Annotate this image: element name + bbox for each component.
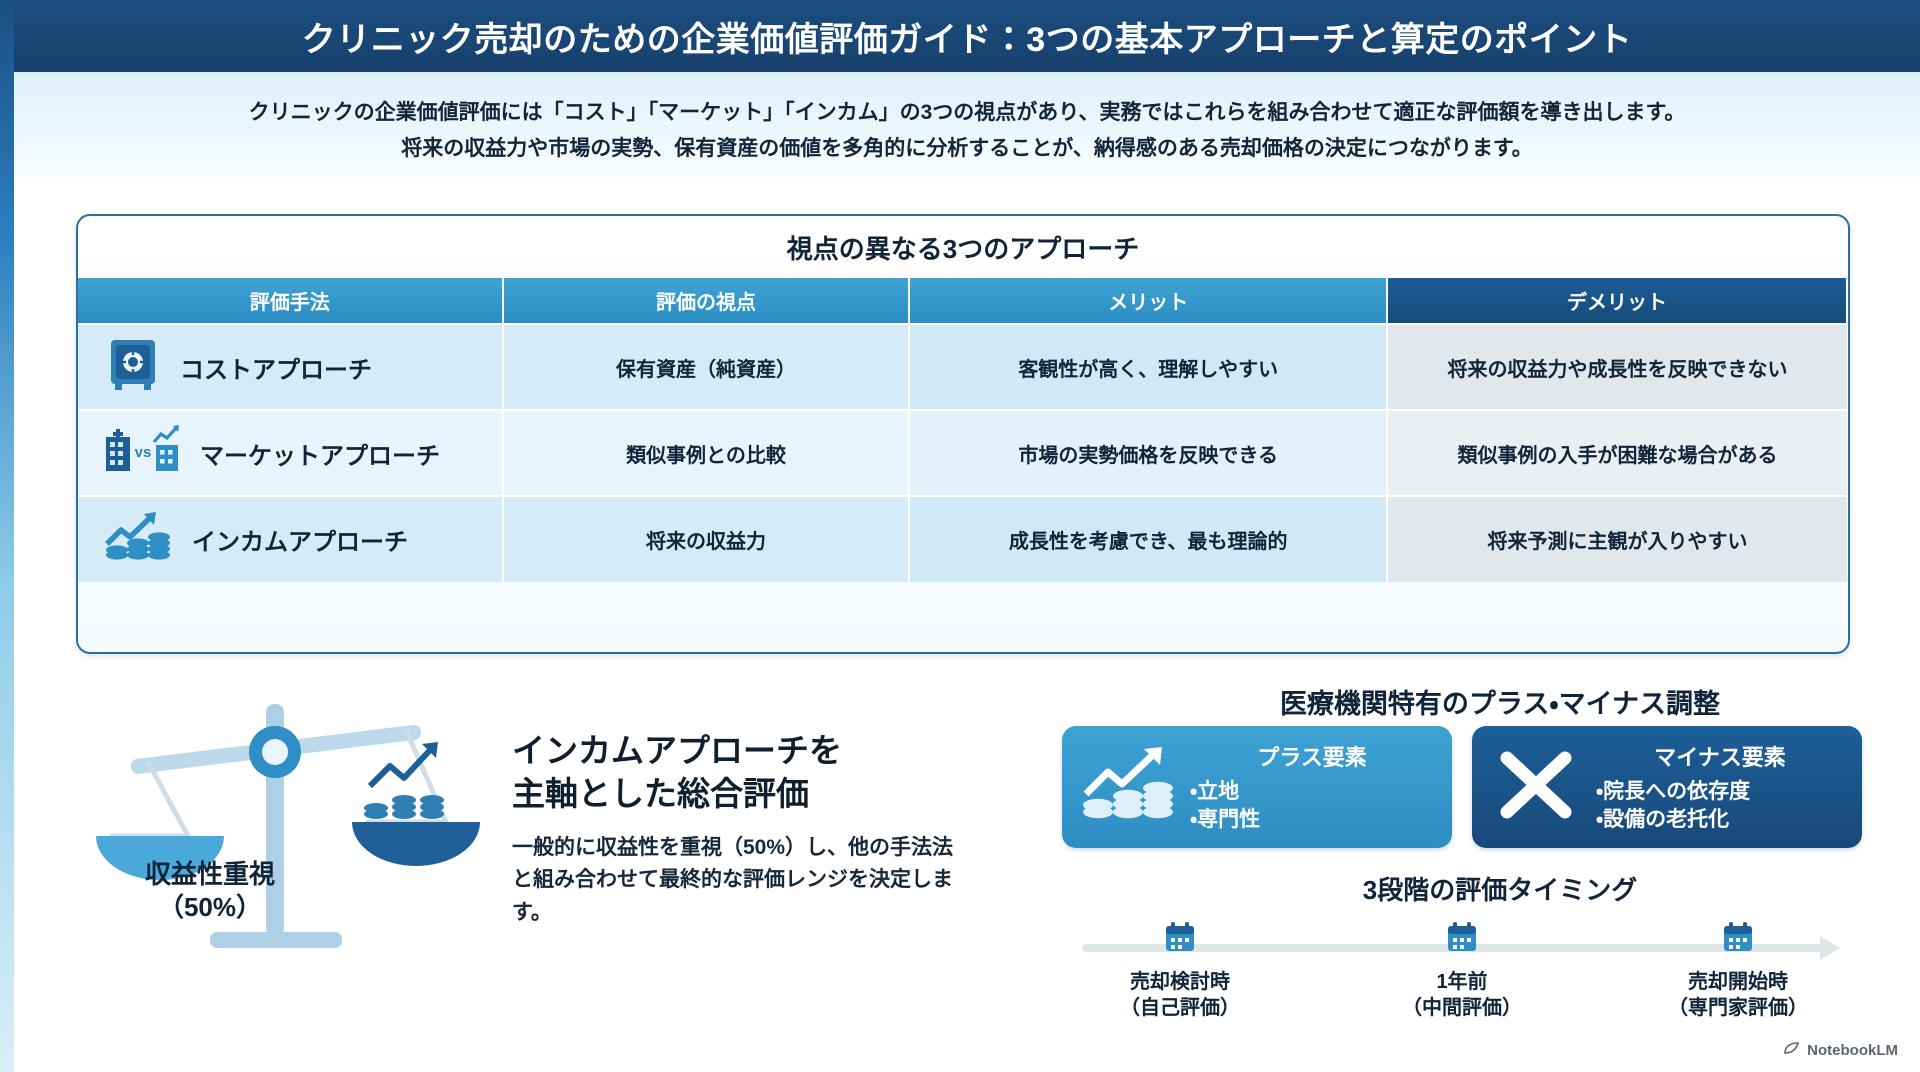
- minus-factor-item: ・院長への依存度: [1596, 778, 1844, 806]
- balance-scale-icon: [70, 947, 490, 964]
- balance-scale-block: 収益性重視 （50%）: [70, 690, 490, 1020]
- table-row: インカムアプローチ 将来の収益力 成長性を考慮でき、最も理論的 将来予測に主観が…: [78, 496, 1847, 582]
- timing-timeline: 売却検討時 （自己評価） 1年前 （中間評価）: [1062, 920, 1862, 1050]
- cell-method: コストアプローチ: [78, 324, 503, 410]
- cross-x-icon: [1490, 743, 1582, 832]
- plus-factor-item: ・立地: [1190, 778, 1434, 806]
- cell-viewpoint: 将来の収益力: [503, 496, 910, 582]
- summary-heading-line-2: 主軸とした総合評価: [512, 775, 809, 812]
- calendar-icon: [1721, 941, 1755, 958]
- cell-demerit: 将来予測に主観が入りやすい: [1387, 496, 1847, 582]
- scale-left-caption: 収益性重視 （50%）: [110, 858, 310, 923]
- lead-paragraph: クリニックの企業価値評価には「コスト」「マーケット」「インカム」の3つの視点があ…: [14, 72, 1920, 190]
- column-header-viewpoint: 評価の視点: [503, 278, 910, 324]
- minus-factors-heading: マイナス要素: [1596, 740, 1844, 772]
- column-header-demerit: デメリット: [1387, 278, 1847, 324]
- page-header: クリニック売却のための企業価値評価ガイド：3つの基本アプローチと算定のポイント: [14, 0, 1920, 72]
- safe-vault-icon: [104, 337, 162, 397]
- cell-demerit: 類似事例の入手が困難な場合がある: [1387, 410, 1847, 496]
- timeline-label-line-1: 売却検討時: [1080, 969, 1280, 995]
- table-row: コストアプローチ 保有資産（純資産） 客観性が高く、理解しやすい 将来の収益力や…: [78, 324, 1847, 410]
- method-label: インカムアプローチ: [192, 522, 408, 557]
- scale-caption-line-2: （50%）: [110, 891, 310, 924]
- approach-table: 評価手法 評価の視点 メリット デメリット: [78, 278, 1848, 582]
- plus-factors-chip: プラス要素 ・立地 ・専門性: [1062, 726, 1452, 848]
- cell-merit: 市場の実勢価格を反映できる: [909, 410, 1387, 496]
- timing-title: 3段階の評価タイミング: [1150, 870, 1850, 907]
- column-header-merit: メリット: [909, 278, 1387, 324]
- cell-merit: 客観性が高く、理解しやすい: [909, 324, 1387, 410]
- left-accent-rail: [0, 0, 14, 1072]
- timeline-label-line-1: 売却開始時: [1638, 969, 1838, 995]
- summary-heading-line-1: インカムアプローチを: [512, 732, 842, 769]
- approach-table-title: 視点の異なる3つのアプローチ: [78, 216, 1848, 278]
- timeline-label-line-2: （専門家評価）: [1638, 995, 1838, 1021]
- table-row: vs マーケットアプローチ: [78, 410, 1847, 496]
- method-label: コストアプローチ: [180, 350, 372, 385]
- notebooklm-logo-icon: [1783, 1041, 1800, 1060]
- cell-viewpoint: 類似事例との比較: [503, 410, 910, 496]
- summary-body: 一般的に収益性を重視（50%）し、他の手法法と組み合わせて最終的な評価レンジを決…: [512, 832, 972, 930]
- method-label: マーケットアプローチ: [200, 436, 440, 471]
- scale-caption-line-1: 収益性重視: [110, 858, 310, 891]
- growth-coins-icon: [104, 510, 174, 570]
- column-header-method: 評価手法: [78, 278, 503, 324]
- plus-factors-text: プラス要素 ・立地 ・専門性: [1190, 740, 1434, 835]
- growth-coins-icon: [1080, 744, 1176, 831]
- plus-factors-heading: プラス要素: [1190, 740, 1434, 772]
- lead-line-2: 将来の収益力や市場の実勢、保有資産の価値を多角的に分析することが、納得感のある売…: [401, 135, 1532, 163]
- timeline-node-label: 売却検討時 （自己評価）: [1080, 969, 1280, 1021]
- table-header-row: 評価手法 評価の視点 メリット デメリット: [78, 278, 1847, 324]
- cell-method: インカムアプローチ: [78, 496, 503, 582]
- cell-viewpoint: 保有資産（純資産）: [503, 324, 910, 410]
- cell-merit: 成長性を考慮でき、最も理論的: [909, 496, 1387, 582]
- plus-factor-item: ・専門性: [1190, 806, 1434, 834]
- timeline-node-label: 売却開始時 （専門家評価）: [1638, 969, 1838, 1021]
- timeline-node: 1年前 （中間評価）: [1362, 920, 1562, 1021]
- svg-text:vs: vs: [135, 444, 152, 461]
- timeline-label-line-1: 1年前: [1362, 969, 1562, 995]
- timeline-label-line-2: （自己評価）: [1080, 995, 1280, 1021]
- calendar-icon: [1163, 941, 1197, 958]
- timeline-label-line-2: （中間評価）: [1362, 995, 1562, 1021]
- cell-demerit: 将来の収益力や成長性を反映できない: [1387, 324, 1847, 410]
- cell-method: vs マーケットアプローチ: [78, 410, 503, 496]
- infographic-page: { "header": { "title": "クリニック売却のための企業価値評…: [0, 0, 1920, 1072]
- building-vs-building-icon: vs: [104, 423, 182, 483]
- approach-table-card: 視点の異なる3つのアプローチ 評価手法 評価の視点 メリット デメリット: [76, 214, 1850, 654]
- lead-line-1: クリニックの企業価値評価には「コスト」「マーケット」「インカム」の3つの視点があ…: [249, 99, 1686, 127]
- summary-heading: インカムアプローチを 主軸とした総合評価: [512, 730, 972, 816]
- timeline-node: 売却開始時 （専門家評価）: [1638, 920, 1838, 1021]
- page-title: クリニック売却のための企業価値評価ガイド：3つの基本アプローチと算定のポイント: [302, 12, 1632, 61]
- minus-factor-item: ・設備の老托化: [1596, 806, 1844, 834]
- notebooklm-watermark: NotebookLM: [1783, 1041, 1898, 1060]
- minus-factors-text: マイナス要素 ・院長への依存度 ・設備の老托化: [1596, 740, 1844, 835]
- summary-block: インカムアプローチを 主軸とした総合評価 一般的に収益性を重視（50%）し、他の…: [512, 730, 972, 929]
- calendar-icon: [1445, 941, 1479, 958]
- timeline-node-label: 1年前 （中間評価）: [1362, 969, 1562, 1021]
- adjustments-title: 医療機関特有のプラス・マイナス調整: [1150, 682, 1850, 721]
- minus-factors-chip: マイナス要素 ・院長への依存度 ・設備の老托化: [1472, 726, 1862, 848]
- timeline-node: 売却検討時 （自己評価）: [1080, 920, 1280, 1021]
- notebooklm-label: NotebookLM: [1807, 1042, 1898, 1059]
